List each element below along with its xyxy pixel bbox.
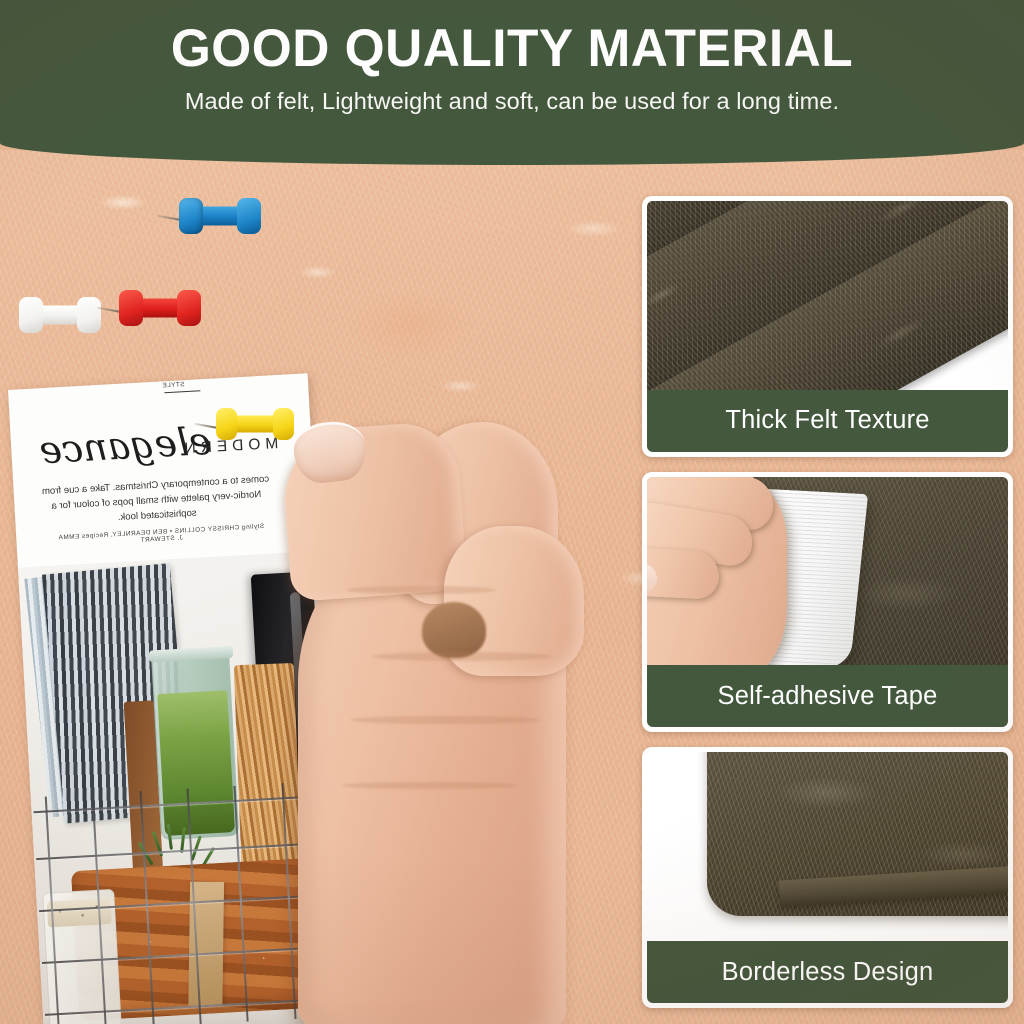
page-subtitle: Made of felt, Lightweight and soft, can … (0, 88, 1024, 115)
pin-head-right (77, 297, 101, 333)
thick-felt-texture-image (647, 201, 1008, 390)
pin-head-right (177, 290, 201, 326)
magazine-rule (164, 390, 200, 393)
pin-head-left (216, 408, 237, 440)
feature-card-list: Thick Felt Texture (642, 196, 1013, 1008)
pushpin-blue (185, 196, 255, 236)
magazine-body-text: comes to a contemporary Christmas. Take … (31, 471, 281, 530)
feature-card-label: Self-adhesive Tape (647, 665, 1008, 727)
magazine-tiny-label: STYLE (162, 381, 185, 389)
hand-finger-gap-shadow (422, 602, 486, 658)
hand-pressing-pushpin (276, 416, 626, 1024)
pin-head-left (19, 297, 43, 333)
feature-card-thick-felt-texture[interactable]: Thick Felt Texture (642, 196, 1013, 457)
pin-head-left (179, 198, 203, 234)
feature-card-label: Thick Felt Texture (647, 390, 1008, 452)
header-banner: GOOD QUALITY MATERIAL Made of felt, Ligh… (0, 0, 1024, 165)
product-feature-graphic: GOOD QUALITY MATERIAL Made of felt, Ligh… (0, 0, 1024, 1024)
page-title: GOOD QUALITY MATERIAL (15, 22, 1008, 76)
feature-card-label: Borderless Design (647, 941, 1008, 1003)
borderless-design-image (647, 752, 1008, 941)
pushpin-red (125, 288, 195, 328)
feature-card-borderless-design[interactable]: Borderless Design (642, 747, 1013, 1008)
pin-head-right (237, 198, 261, 234)
self-adhesive-tape-image (647, 477, 1008, 666)
product-scene: STYLE elegance MODERN comes to a contemp… (0, 160, 648, 1024)
tape-hand (647, 477, 787, 666)
felt-diagonal-strips (647, 201, 1008, 390)
pin-head-left (119, 290, 143, 326)
tape-demo-scene (647, 477, 1008, 666)
pushpin-white (25, 295, 95, 335)
feature-card-self-adhesive-tape[interactable]: Self-adhesive Tape (642, 472, 1013, 733)
borderless-felt-scene (647, 752, 1008, 941)
